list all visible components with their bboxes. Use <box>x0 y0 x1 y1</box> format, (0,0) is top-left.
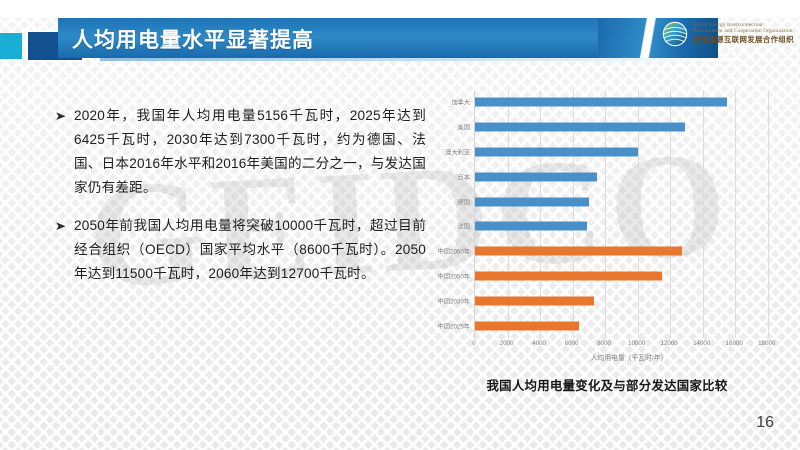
x-tick-label: 2000 <box>500 340 514 347</box>
gridline <box>735 90 736 338</box>
category-label: 法国 <box>424 222 470 231</box>
page-title: 人均用电量水平显著提高 <box>72 24 314 54</box>
category-label: 日本 <box>424 172 470 181</box>
x-tick-label: 4000 <box>532 340 546 347</box>
x-tick-label: 10000 <box>628 340 645 347</box>
bar-7 <box>475 272 662 281</box>
category-label: 中国2030年 <box>424 296 470 305</box>
category-label: 中国2050年 <box>424 272 470 281</box>
x-axis-label: 人均用电量（千瓦时/年） <box>474 352 784 362</box>
bar-3 <box>475 172 597 181</box>
category-label: 美国 <box>424 123 470 132</box>
x-tick-label: 6000 <box>565 340 579 347</box>
bar-6 <box>475 247 682 256</box>
chart-caption: 我国人均用电量变化及与部分发达国家比较 <box>424 376 790 394</box>
page-number: 16 <box>756 414 774 432</box>
bar-9 <box>475 321 579 330</box>
category-label: 中国2060年 <box>424 247 470 256</box>
decor-cyan-square <box>0 33 22 59</box>
title-underline <box>100 58 740 61</box>
logo-text-block: Global Energy Interconnection Developmen… <box>693 23 794 44</box>
plot-area-wrap: 加拿大美国澳大利亚日本德国法国中国2060年中国2050年中国2030年中国20… <box>424 84 790 342</box>
category-label: 澳大利亚 <box>424 148 470 157</box>
bullet-arrow-icon: ➤ <box>55 214 76 238</box>
bar-1 <box>475 123 685 132</box>
bar-0 <box>475 98 727 107</box>
category-label: 德国 <box>424 197 470 206</box>
plot-area <box>474 90 784 338</box>
globe-icon <box>662 21 688 47</box>
category-label: 中国2025年 <box>424 321 470 330</box>
x-tick-label: 0 <box>472 340 475 347</box>
bullet-text: 2020年，我国年人均用电量5156千瓦时，2025年达到6425千瓦时，203… <box>74 104 426 200</box>
bar-chart: 加拿大美国澳大利亚日本德国法国中国2060年中国2050年中国2030年中国20… <box>424 84 790 374</box>
x-tick-label: 14000 <box>693 340 710 347</box>
bullet-item: ➤ 2050年前我国人均用电量将突破10000千瓦时，超过目前经合组织（OECD… <box>56 214 426 286</box>
gridline <box>703 90 704 338</box>
x-tick-label: 8000 <box>597 340 611 347</box>
bullet-text: 2050年前我国人均用电量将突破10000千瓦时，超过目前经合组织（OECD）国… <box>74 214 426 286</box>
bar-4 <box>475 197 589 206</box>
body-text-block: ➤ 2020年，我国年人均用电量5156千瓦时，2025年达到6425千瓦时，2… <box>56 104 426 300</box>
slide-canvas: GEIDCO 人均用电量水平显著提高 Global En <box>0 0 800 450</box>
bar-5 <box>475 222 587 231</box>
logo-cn-name: 全球能源互联网发展合作组织 <box>693 36 794 45</box>
bar-2 <box>475 148 638 157</box>
x-tick-label: 18000 <box>758 340 775 347</box>
organization-logo: Global Energy Interconnection Developmen… <box>662 14 794 54</box>
bullet-arrow-icon: ➤ <box>55 104 76 128</box>
x-tick-label: 12000 <box>661 340 678 347</box>
x-tick-label: 16000 <box>726 340 743 347</box>
category-label: 加拿大 <box>424 98 470 107</box>
bar-8 <box>475 296 594 305</box>
bullet-item: ➤ 2020年，我国年人均用电量5156千瓦时，2025年达到6425千瓦时，2… <box>56 104 426 200</box>
gridline <box>768 90 769 338</box>
